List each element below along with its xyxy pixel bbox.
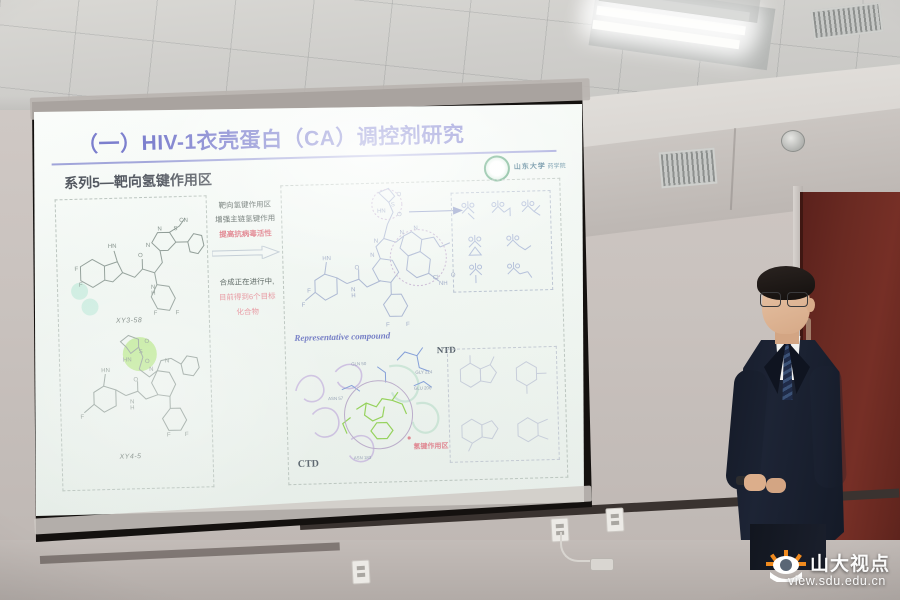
slide-title: （一）HIV-1衣壳蛋白（CA）调控剂研究 <box>77 118 465 158</box>
hand-left <box>744 474 766 491</box>
wall-outlet-right[interactable] <box>605 508 624 533</box>
svg-text:GLN 50: GLN 50 <box>351 361 367 366</box>
svg-text:S: S <box>139 349 143 355</box>
wall-vent-icon <box>659 148 718 189</box>
svg-text:HN: HN <box>123 357 132 363</box>
docking-figure: GLN 50 GLY 224 GLU 206 ASN 57 ASN 183 <box>289 340 472 471</box>
svg-text:N: N <box>400 230 405 236</box>
middle-text-column: 靶向氢键作用区 增强主链氢键作用 提高抗病毒活性 <box>211 197 280 242</box>
floor-cable-connector <box>590 558 614 571</box>
svg-text:F: F <box>406 322 410 328</box>
svg-text:O: O <box>144 339 149 345</box>
slide-surface: （一）HIV-1衣壳蛋白（CA）调控剂研究 系列5—靶向氢键作用区 山东大学 药… <box>32 104 584 516</box>
hbond-region-label: 氢键作用区 <box>413 441 448 452</box>
svg-text:N: N <box>374 239 379 245</box>
svg-text:HN: HN <box>322 256 331 262</box>
watermark-url: view.sdu.edu.cn <box>788 574 886 588</box>
right-arrow-icon <box>212 245 280 260</box>
svg-text:Cl: Cl <box>433 275 439 281</box>
r-group-variation-box <box>451 190 554 293</box>
compound-label-xy3-58: XY3-58 <box>116 317 143 325</box>
svg-text:O: O <box>354 265 359 271</box>
svg-text:N: N <box>146 243 151 249</box>
university-seal-icon <box>484 155 511 182</box>
svg-text:F: F <box>79 283 83 289</box>
svg-text:F: F <box>185 432 189 438</box>
watermark-brand: 山大视点 <box>810 549 890 576</box>
middle-text-column-2: 合成正在进行中, 目前得到6个目标 化合物 <box>211 273 284 320</box>
svg-text:O: O <box>138 253 143 259</box>
watermark: 山大视点 view.sdu.edu.cn <box>764 548 896 596</box>
wall-outlet-left[interactable] <box>351 560 370 585</box>
svg-text:F: F <box>307 289 311 295</box>
svg-text:H: H <box>130 405 135 411</box>
svg-text:F: F <box>80 415 84 421</box>
screenshot-root: （一）HIV-1衣壳蛋白（CA）调控剂研究 系列5—靶向氢键作用区 山东大学 药… <box>0 0 900 600</box>
hand-right <box>766 478 786 493</box>
molecule-representative: HN S O O HN F F O N H N N N <box>291 192 475 347</box>
slide-subtitle: 系列5—靶向氢键作用区 <box>64 169 212 193</box>
department-name: 药学院 <box>547 163 565 169</box>
svg-text:F: F <box>74 267 78 273</box>
svg-text:N: N <box>157 227 162 233</box>
arm-right <box>809 365 847 489</box>
svg-text:ASN 183: ASN 183 <box>354 455 372 460</box>
svg-text:F: F <box>386 322 390 328</box>
university-logo-text: 山东大学 药学院 <box>514 162 566 172</box>
projection-screen[interactable]: （一）HIV-1衣壳蛋白（CA）调控剂研究 系列5—靶向氢键作用区 山东大学 药… <box>22 82 592 542</box>
svg-text:O: O <box>397 192 402 198</box>
svg-text:GLU 206: GLU 206 <box>414 385 432 390</box>
svg-text:HN: HN <box>101 368 110 374</box>
university-name: 山东大学 <box>514 163 546 171</box>
middle2-line-2: 目前得到6个目标 <box>211 288 283 305</box>
svg-text:H: H <box>351 293 356 299</box>
svg-text:GLY 224: GLY 224 <box>415 369 433 374</box>
svg-text:F: F <box>301 303 305 309</box>
svg-text:N: N <box>370 253 375 259</box>
svg-text:NH: NH <box>439 281 448 287</box>
molecule-xy3-58: HN O N H N N CN S F F F F <box>61 215 204 319</box>
svg-text:S: S <box>173 226 177 232</box>
middle2-line-3: 化合物 <box>212 303 284 320</box>
svg-text:ASN 57: ASN 57 <box>328 396 344 401</box>
svg-text:O: O <box>133 377 138 383</box>
svg-text:N: N <box>165 358 170 364</box>
compound-label-xy4-5: XY4-5 <box>119 453 141 461</box>
middle-line-2: 增强主链氢键作用 <box>211 212 279 228</box>
svg-text:N: N <box>413 226 418 232</box>
molecule-xy4-5: HN S O O HN F O N H N N F F <box>64 339 207 447</box>
svg-text:H: H <box>151 291 156 297</box>
svg-text:O: O <box>397 212 402 218</box>
svg-text:N: N <box>149 367 154 373</box>
presenter <box>726 262 866 562</box>
svg-text:O: O <box>145 359 150 365</box>
smoke-detector-icon <box>781 130 805 152</box>
analog-structures-box <box>447 346 560 463</box>
svg-text:F: F <box>154 311 158 317</box>
ctd-label: CTD <box>298 458 319 470</box>
svg-text:CN: CN <box>179 218 188 224</box>
svg-text:F: F <box>176 310 180 316</box>
glasses-icon <box>760 292 810 305</box>
svg-text:F: F <box>167 432 171 438</box>
svg-text:HN: HN <box>377 208 386 214</box>
svg-text:S: S <box>391 202 395 208</box>
middle-line-3: 提高抗病毒活性 <box>211 226 279 242</box>
svg-text:HN: HN <box>108 244 117 250</box>
